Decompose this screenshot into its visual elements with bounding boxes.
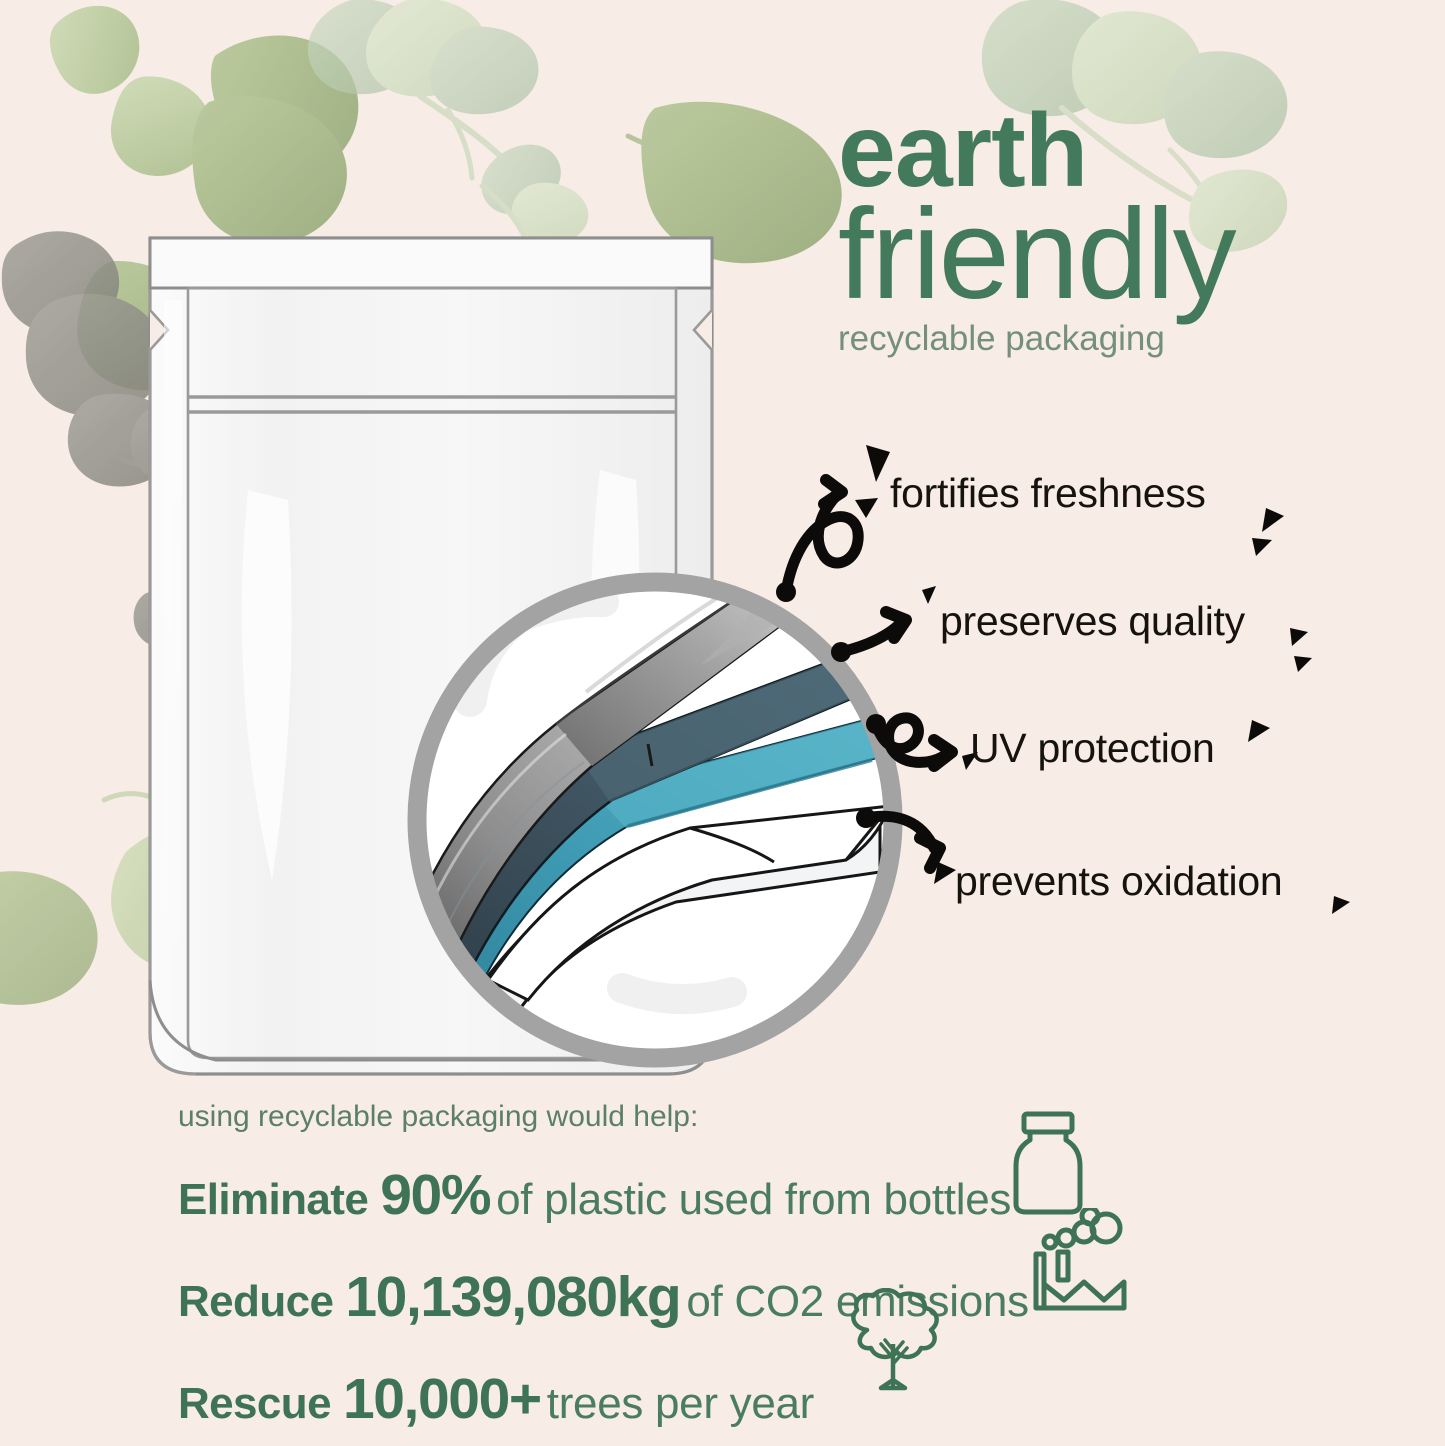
- bottle-icon: [1000, 1108, 1096, 1218]
- stat-number: 90%: [380, 1162, 490, 1228]
- stat-tail: trees per year: [547, 1379, 814, 1429]
- infographic-page: earth friendly recyclable packaging fort…: [0, 0, 1445, 1446]
- stat-number: 10,139,080kg: [345, 1264, 680, 1330]
- header-block: earth friendly recyclable packaging: [838, 104, 1398, 359]
- tree-icon: [833, 1288, 953, 1400]
- stat-tail: of plastic used from bottles: [496, 1175, 1011, 1225]
- stat-verb: Rescue: [178, 1379, 331, 1429]
- page-subtitle: recyclable packaging: [838, 319, 1398, 359]
- stat-verb: Eliminate: [178, 1175, 368, 1225]
- feature-label-preserves-quality: preserves quality: [940, 598, 1245, 645]
- feature-label-prevents-oxidation: prevents oxidation: [955, 858, 1282, 905]
- factory-icon: [1022, 1208, 1138, 1316]
- page-title-line2: friendly: [838, 194, 1398, 316]
- stat-verb: Reduce: [178, 1277, 333, 1327]
- stat-number: 10,000+: [343, 1366, 541, 1432]
- stat-row: Rescue 10,000+ trees per year: [178, 1366, 1238, 1432]
- feature-label-fortifies-freshness: fortifies freshness: [890, 470, 1206, 517]
- feature-label-uv-protection: UV protection: [970, 725, 1215, 772]
